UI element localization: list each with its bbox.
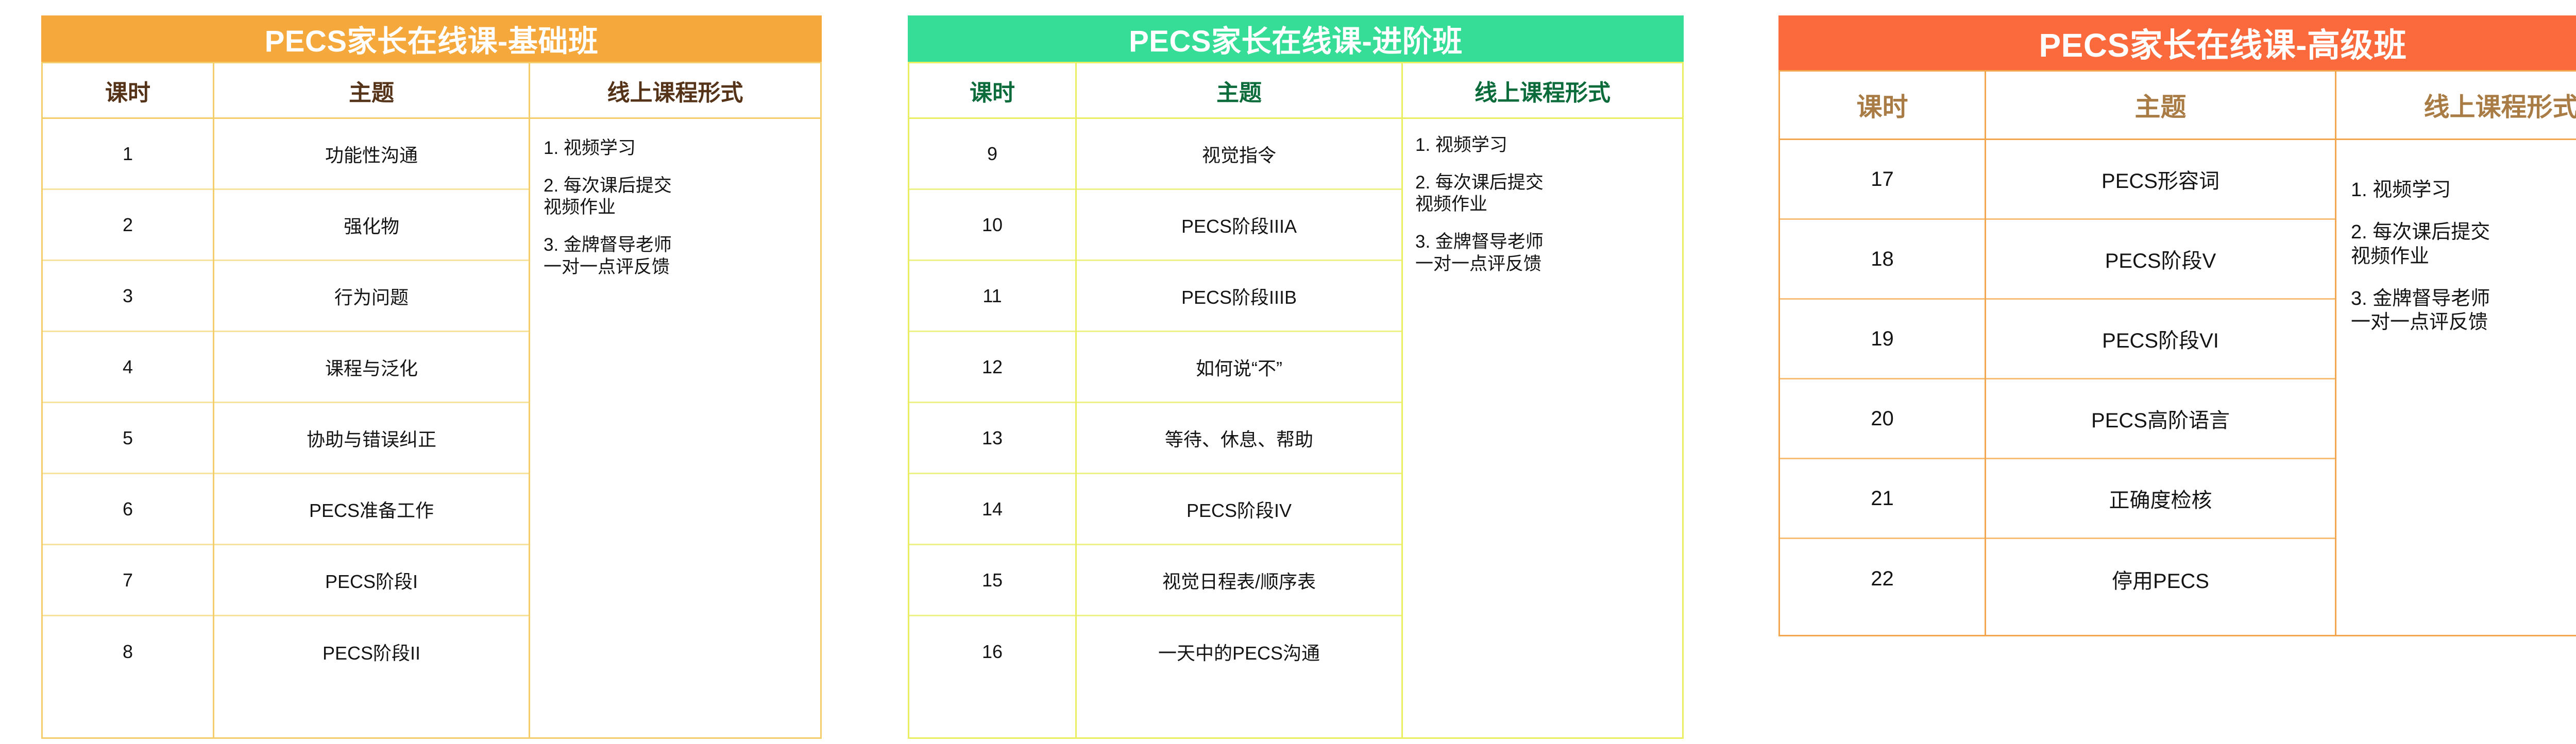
table-row: 1 xyxy=(43,119,213,190)
table-row: 停用PECS xyxy=(1986,539,2335,619)
table-row: 15 xyxy=(909,545,1075,616)
table-row: PECS高阶语言 xyxy=(1986,379,2335,459)
table-row: 功能性沟通 xyxy=(214,119,529,190)
table-row: PECS阶段II xyxy=(214,616,529,687)
table-row: PECS阶段VI xyxy=(1986,300,2335,379)
table-row: PECS阶段V xyxy=(1986,220,2335,300)
format-item: 3. 金牌督导老师 一对一点评反馈 xyxy=(544,234,807,278)
course-card-intermediate-table: 课时 9 10 11 12 13 14 15 16 主题 视觉指令 PECS阶段… xyxy=(908,62,1684,739)
column-topic: 主题 视觉指令 PECS阶段IIIA PECS阶段IIIB 如何说“不” 等待、… xyxy=(1077,63,1401,737)
table-row: 6 xyxy=(43,474,213,545)
format-item: 2. 每次课后提交 视频作业 xyxy=(544,175,807,219)
table-row: 行为问题 xyxy=(214,261,529,332)
table-row: 10 xyxy=(909,190,1075,261)
format-list: 1. 视频学习 2. 每次课后提交 视频作业 3. 金牌督导老师 一对一点评反馈 xyxy=(2336,140,2576,353)
format-item: 2. 每次课后提交 视频作业 xyxy=(1415,172,1670,216)
column-header-format: 线上课程形式 xyxy=(2336,72,2576,140)
table-row: 20 xyxy=(1780,379,1985,459)
course-card-basic-title: PECS家长在线课-基础班 xyxy=(41,15,822,62)
table-row: 21 xyxy=(1780,459,1985,539)
table-row: 课程与泛化 xyxy=(214,332,529,403)
column-format: 线上课程形式 1. 视频学习 2. 每次课后提交 视频作业 3. 金牌督导老师 … xyxy=(2335,72,2576,635)
column-header-session: 课时 xyxy=(43,63,213,119)
table-row: 正确度检核 xyxy=(1986,459,2335,539)
column-session: 课时 1 2 3 4 5 6 7 8 xyxy=(43,63,214,737)
format-item: 1. 视频学习 xyxy=(544,137,807,160)
table-row: 3 xyxy=(43,261,213,332)
table-row: 7 xyxy=(43,545,213,616)
table-row: PECS阶段IIIA xyxy=(1077,190,1401,261)
table-row: 12 xyxy=(909,332,1075,403)
column-session: 课时 17 18 19 20 21 22 xyxy=(1780,72,1986,635)
table-row: PECS阶段IV xyxy=(1077,474,1401,545)
format-item: 1. 视频学习 xyxy=(2351,178,2576,202)
course-card-advanced-title: PECS家长在线课-高级班 xyxy=(1778,15,2576,70)
table-row: 5 xyxy=(43,403,213,474)
table-row: 强化物 xyxy=(214,190,529,261)
column-header-session: 课时 xyxy=(909,63,1075,119)
course-card-basic-table: 课时 1 2 3 4 5 6 7 8 主题 功能性沟通 强化物 行为问题 课程与… xyxy=(41,62,822,739)
table-row: 18 xyxy=(1780,220,1985,300)
column-session: 课时 9 10 11 12 13 14 15 16 xyxy=(909,63,1077,737)
table-row: PECS阶段I xyxy=(214,545,529,616)
format-item: 1. 视频学习 xyxy=(1415,134,1670,157)
table-row: 9 xyxy=(909,119,1075,190)
table-row: 协助与错误纠正 xyxy=(214,403,529,474)
table-row: 19 xyxy=(1780,300,1985,379)
course-card-advanced-table: 课时 17 18 19 20 21 22 主题 PECS形容词 PECS阶段V … xyxy=(1778,70,2576,636)
format-list: 1. 视频学习 2. 每次课后提交 视频作业 3. 金牌督导老师 一对一点评反馈 xyxy=(1403,119,1682,290)
course-card-advanced: PECS家长在线课-高级班 课时 17 18 19 20 21 22 主题 PE… xyxy=(1778,15,2576,636)
column-topic: 主题 功能性沟通 强化物 行为问题 课程与泛化 协助与错误纠正 PECS准备工作… xyxy=(214,63,529,737)
column-header-topic: 主题 xyxy=(1986,72,2335,140)
table-row: 11 xyxy=(909,261,1075,332)
column-format: 线上课程形式 1. 视频学习 2. 每次课后提交 视频作业 3. 金牌督导老师 … xyxy=(1401,63,1682,737)
course-card-basic: PECS家长在线课-基础班 课时 1 2 3 4 5 6 7 8 主题 功能性沟… xyxy=(41,15,822,739)
table-row: 14 xyxy=(909,474,1075,545)
course-schedule-board: PECS家长在线课-基础班 课时 1 2 3 4 5 6 7 8 主题 功能性沟… xyxy=(0,0,2576,744)
column-header-topic: 主题 xyxy=(1077,63,1401,119)
table-row: 16 xyxy=(909,616,1075,687)
table-row: PECS阶段IIIB xyxy=(1077,261,1401,332)
column-header-topic: 主题 xyxy=(214,63,529,119)
table-row: 17 xyxy=(1780,140,1985,220)
table-row: 22 xyxy=(1780,539,1985,619)
table-row: 等待、休息、帮助 xyxy=(1077,403,1401,474)
table-row: PECS形容词 xyxy=(1986,140,2335,220)
table-row: 13 xyxy=(909,403,1075,474)
table-row: 如何说“不” xyxy=(1077,332,1401,403)
course-card-intermediate: PECS家长在线课-进阶班 课时 9 10 11 12 13 14 15 16 … xyxy=(908,15,1684,739)
column-header-format: 线上课程形式 xyxy=(530,63,820,119)
table-row: 一天中的PECS沟通 xyxy=(1077,616,1401,687)
column-format: 线上课程形式 1. 视频学习 2. 每次课后提交 视频作业 3. 金牌督导老师 … xyxy=(529,63,820,737)
table-row: 视觉指令 xyxy=(1077,119,1401,190)
format-item: 3. 金牌督导老师 一对一点评反馈 xyxy=(1415,231,1670,275)
table-row: 2 xyxy=(43,190,213,261)
column-header-format: 线上课程形式 xyxy=(1403,63,1682,119)
format-item: 3. 金牌督导老师 一对一点评反馈 xyxy=(2351,287,2576,335)
column-header-session: 课时 xyxy=(1780,72,1985,140)
course-card-intermediate-title: PECS家长在线课-进阶班 xyxy=(908,15,1684,62)
table-row: 视觉日程表/顺序表 xyxy=(1077,545,1401,616)
table-row: 8 xyxy=(43,616,213,687)
format-list: 1. 视频学习 2. 每次课后提交 视频作业 3. 金牌督导老师 一对一点评反馈 xyxy=(530,119,820,293)
table-row: PECS准备工作 xyxy=(214,474,529,545)
column-topic: 主题 PECS形容词 PECS阶段V PECS阶段VI PECS高阶语言 正确度… xyxy=(1986,72,2335,635)
table-row: 4 xyxy=(43,332,213,403)
format-item: 2. 每次课后提交 视频作业 xyxy=(2351,220,2576,268)
